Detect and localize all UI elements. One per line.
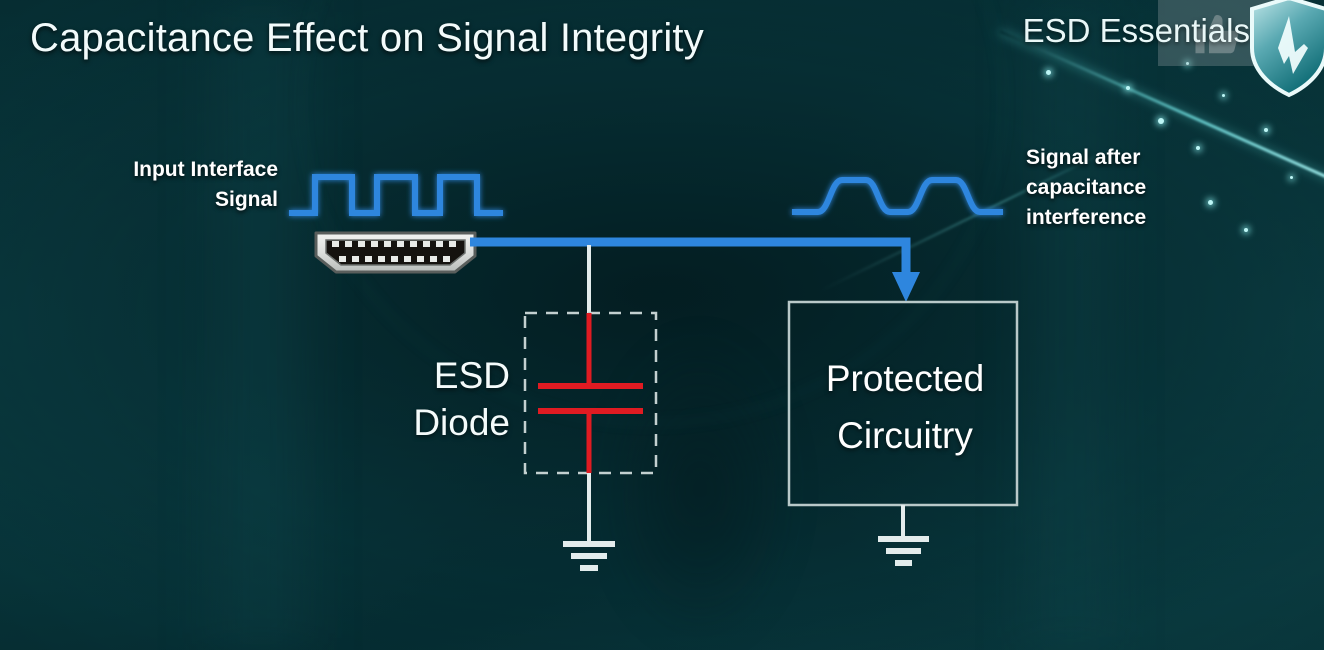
signal-arrow-icon bbox=[892, 272, 920, 302]
output-rounded-waveform bbox=[792, 180, 1003, 212]
slide-canvas: Capacitance Effect on Signal Integrity E… bbox=[0, 0, 1324, 650]
ground-symbol-icon bbox=[563, 544, 615, 568]
capacitor-symbol-icon bbox=[538, 313, 643, 473]
ground-symbol-icon bbox=[878, 539, 929, 563]
signal-trace bbox=[470, 242, 920, 302]
protected-circuitry-box bbox=[789, 302, 1017, 505]
input-square-waveform bbox=[289, 177, 503, 213]
hdmi-connector-icon bbox=[316, 233, 475, 272]
circuit-diagram bbox=[0, 0, 1324, 650]
